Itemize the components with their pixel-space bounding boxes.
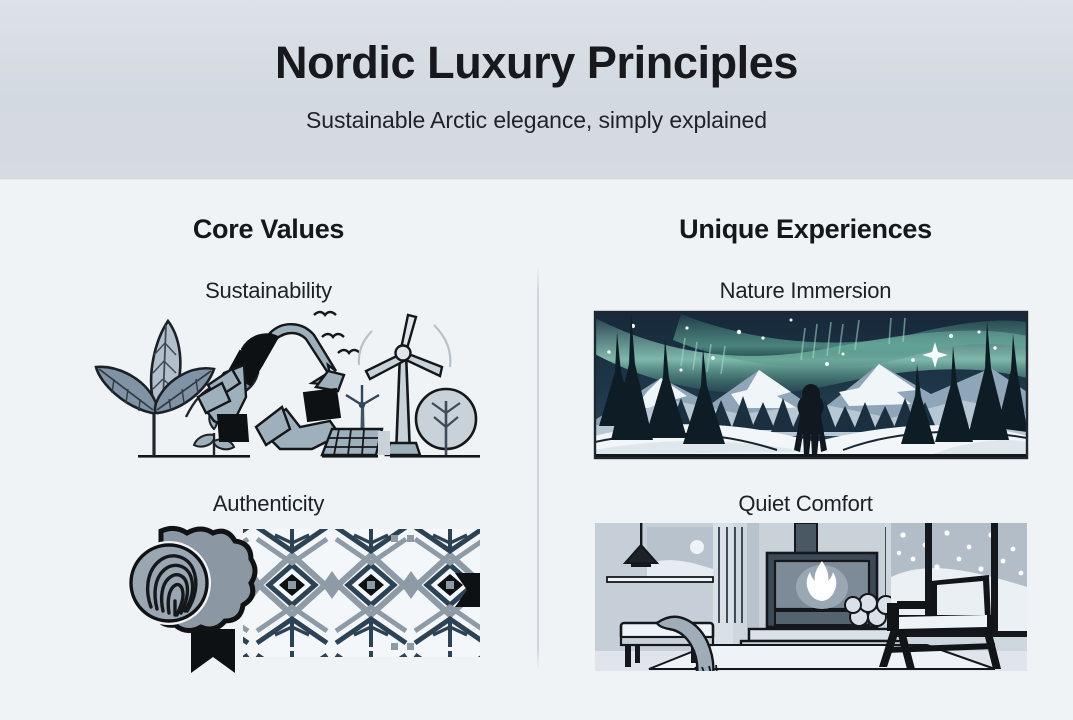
header-band: Nordic Luxury Principles Sustainable Arc…	[0, 0, 1073, 180]
sustainability-illustration	[90, 309, 480, 474]
card-label-nature-immersion: Nature Immersion	[537, 278, 1073, 304]
ground-line	[138, 455, 480, 458]
infographic-canvas: Nordic Luxury Principles Sustainable Arc…	[0, 0, 1073, 720]
fireplace	[741, 523, 901, 651]
large-leaf-cluster	[96, 321, 214, 456]
card-label-quiet-comfort: Quiet Comfort	[537, 491, 1073, 517]
authenticity-illustration	[95, 521, 480, 676]
recycle-arrows-symbol	[198, 324, 344, 449]
card-label-sustainability: Sustainability	[0, 278, 537, 304]
column-heading-unique-experiences: Unique Experiences	[537, 214, 1073, 245]
seal-ribbon-tails	[191, 629, 235, 673]
nature-immersion-illustration	[591, 308, 1031, 468]
nordic-textile-pattern	[243, 529, 480, 657]
column-unique-experiences: Unique Experiences Nature Immersion	[537, 181, 1073, 720]
column-heading-core-values: Core Values	[0, 214, 537, 245]
solar-panel	[322, 429, 390, 455]
wax-seal-badge	[127, 528, 255, 673]
card-label-authenticity: Authenticity	[0, 491, 537, 517]
round-tree	[416, 389, 476, 455]
content-area: Core Values Sustainability	[0, 181, 1073, 720]
quiet-comfort-illustration	[591, 519, 1031, 679]
column-core-values: Core Values Sustainability	[0, 181, 537, 720]
page-title: Nordic Luxury Principles	[275, 40, 798, 85]
page-subtitle: Sustainable Arctic elegance, simply expl…	[306, 107, 767, 134]
